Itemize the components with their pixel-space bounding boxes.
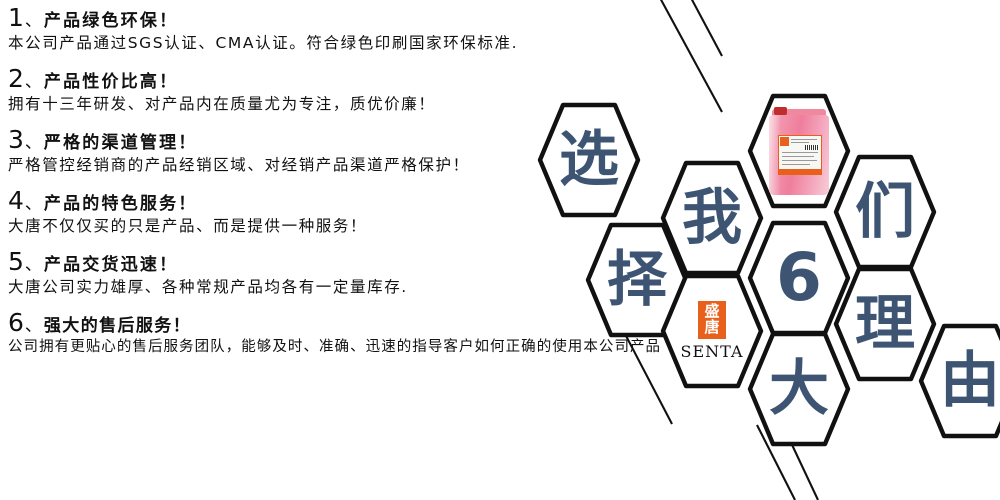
hex-cell-xuan: 选 <box>537 101 641 219</box>
can-cap <box>774 107 787 115</box>
logo-char-bottom: 唐 <box>704 320 719 335</box>
label-line <box>782 160 817 161</box>
label-line <box>782 152 818 153</box>
can-label <box>778 135 822 175</box>
hex-label-men: 们 <box>833 153 937 271</box>
hex-label-xuan: 选 <box>537 101 641 219</box>
logo-wordmark: SENTA <box>681 342 744 361</box>
label-footer-bar <box>779 169 821 174</box>
label-line <box>791 139 817 140</box>
promo-banner: 1 、 产品绿色环保！ 本公司产品通过SGS认证、CMA认证。符合绿色印刷国家环… <box>0 0 1000 500</box>
label-logo-block <box>780 137 789 146</box>
logo-mark: 盛 唐 <box>698 301 726 339</box>
label-line <box>782 164 810 165</box>
label-line <box>782 156 814 157</box>
label-line <box>791 142 809 143</box>
hex-cell-you: 由 <box>918 322 1000 440</box>
hex-cell-men: 们 <box>833 153 937 271</box>
hex-label-you: 由 <box>918 322 1000 440</box>
jerrycan-graphic <box>769 107 829 195</box>
honeycomb-graphic: 选 择 我 盛 唐 SENTA <box>0 0 1000 500</box>
label-barcode <box>805 145 819 150</box>
